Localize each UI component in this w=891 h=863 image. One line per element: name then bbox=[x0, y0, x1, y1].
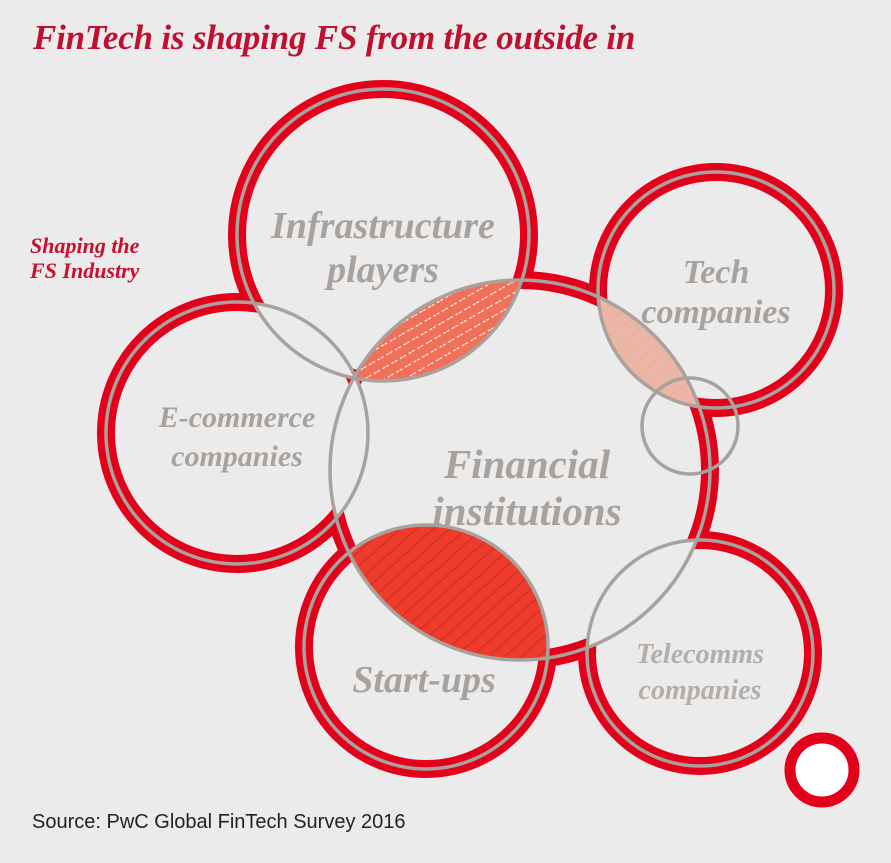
label-financial-institutions-line1: Financial bbox=[443, 441, 611, 487]
label-tech-companies-line2: companies bbox=[641, 294, 790, 331]
accent-dot-marker[interactable] bbox=[790, 738, 854, 802]
accent-dot-icon[interactable] bbox=[790, 738, 854, 802]
label-financial-institutions: Financial institutions bbox=[432, 441, 621, 534]
label-telecomms-companies: Telecomms companies bbox=[636, 639, 764, 706]
label-infrastructure-players-line1: Infrastructure bbox=[270, 205, 495, 247]
bubble-diagram: Infrastructure players Tech companies E-… bbox=[0, 0, 891, 863]
label-financial-institutions-line2: institutions bbox=[432, 488, 621, 534]
label-tech-companies-line1: Tech bbox=[683, 254, 750, 291]
label-e-commerce-companies: E-commerce companies bbox=[158, 401, 316, 473]
label-tech-companies: Tech companies bbox=[641, 254, 790, 331]
label-e-commerce-companies-line2: companies bbox=[171, 440, 303, 473]
label-start-ups: Start-ups bbox=[352, 659, 496, 701]
label-start-ups-line1: Start-ups bbox=[352, 659, 496, 701]
infographic-canvas: FinTech is shaping FS from the outside i… bbox=[0, 0, 891, 863]
label-infrastructure-players: Infrastructure players bbox=[270, 205, 495, 291]
label-e-commerce-companies-line1: E-commerce bbox=[158, 401, 316, 434]
label-telecomms-companies-line2: companies bbox=[639, 675, 762, 706]
label-telecomms-companies-line1: Telecomms bbox=[636, 639, 764, 670]
label-infrastructure-players-line2: players bbox=[324, 249, 439, 291]
